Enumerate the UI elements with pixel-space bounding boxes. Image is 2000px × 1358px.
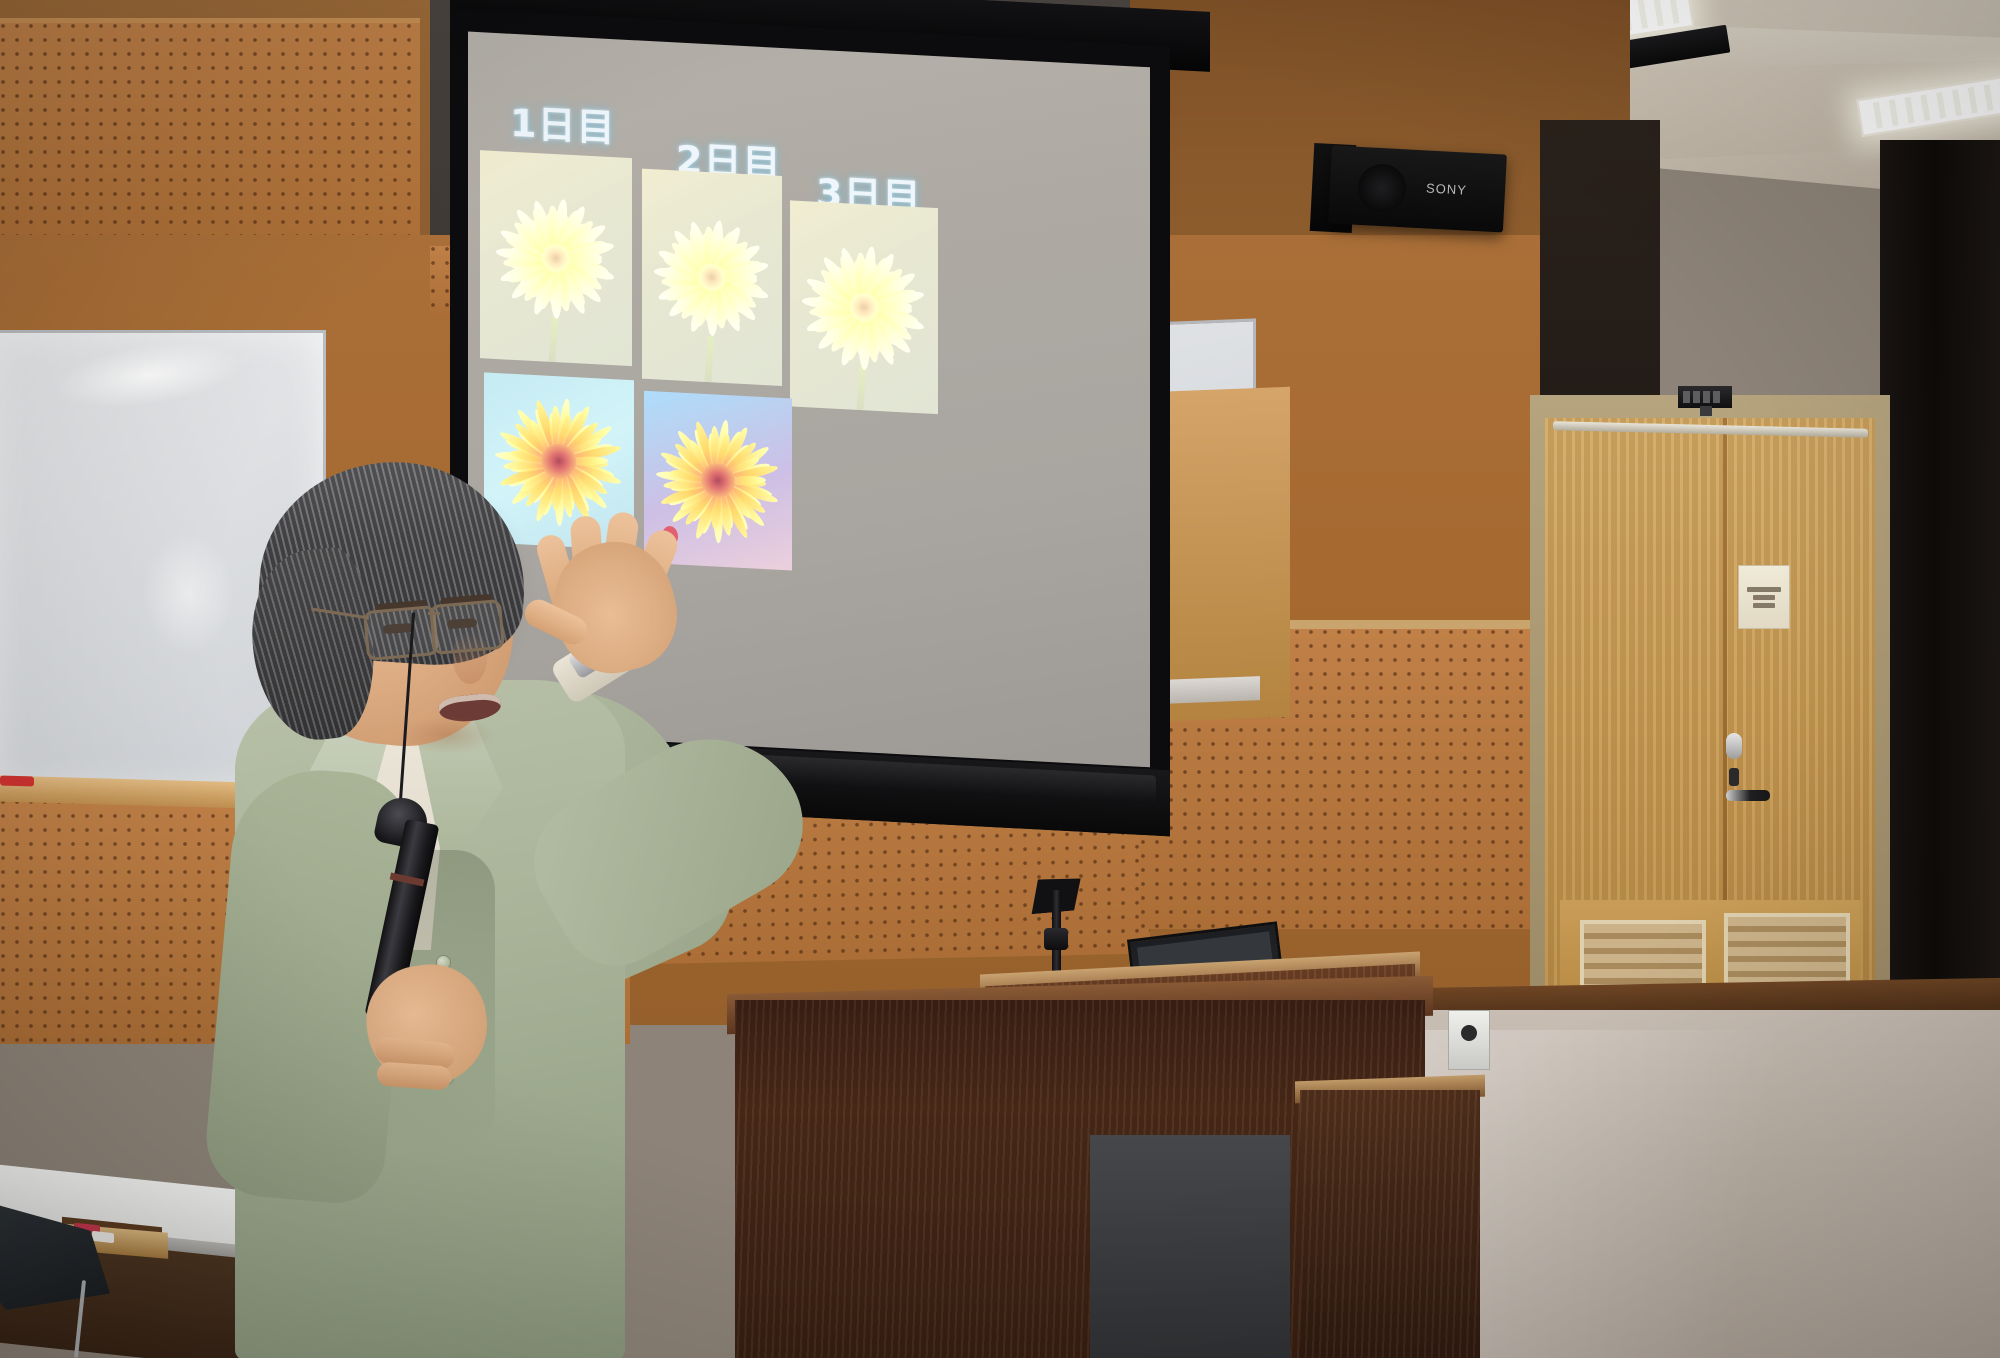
speaker-brand-label: SONY [1426,180,1468,197]
lecture-hall-photo: SONY 1日目 2日目 3日目 [0,0,2000,1358]
door-handle[interactable] [1726,790,1770,801]
presenter-chin-shadow [400,716,495,754]
slide-photo-visible-day1 [480,150,632,366]
wall-speaker: SONY [1328,145,1507,232]
marker-red [0,776,34,787]
door-notice-paper [1738,565,1790,629]
whiteboard-smudge [50,332,247,418]
mic-adjust-knob[interactable] [1044,928,1068,950]
perforated-panel [0,18,420,253]
wall-outlet-plate [1448,1010,1490,1070]
flower-stem [705,336,715,383]
window-curtain [1880,140,2000,1020]
upper-left-wood-wall [0,0,430,270]
wall-fixture [1700,406,1712,416]
flower-stem [548,316,558,363]
door-thumbturn[interactable] [1729,768,1739,786]
flower-stem [856,364,866,411]
eyeglasses-bridge [428,612,440,615]
flower-center [849,292,878,323]
door-lock-icon[interactable] [1726,733,1742,759]
podium-side-cabinet [1300,1090,1480,1358]
eyeglasses-lens-right [429,599,505,655]
slide-photo-visible-day3 [790,200,938,414]
slide-photo-visible-day2 [642,169,782,386]
door-sign-box [1678,386,1732,408]
notice-text-line [1747,587,1781,592]
slide-label-day1: 1日目 [510,92,615,153]
notice-text-line [1753,603,1775,608]
speaker-cone-icon [1357,163,1407,213]
podium-front-panel [1090,1135,1290,1358]
whiteboard-smudge [143,533,233,653]
presenter [225,520,785,1358]
presenter-finger [376,1061,451,1090]
notice-text-line [1753,595,1775,600]
